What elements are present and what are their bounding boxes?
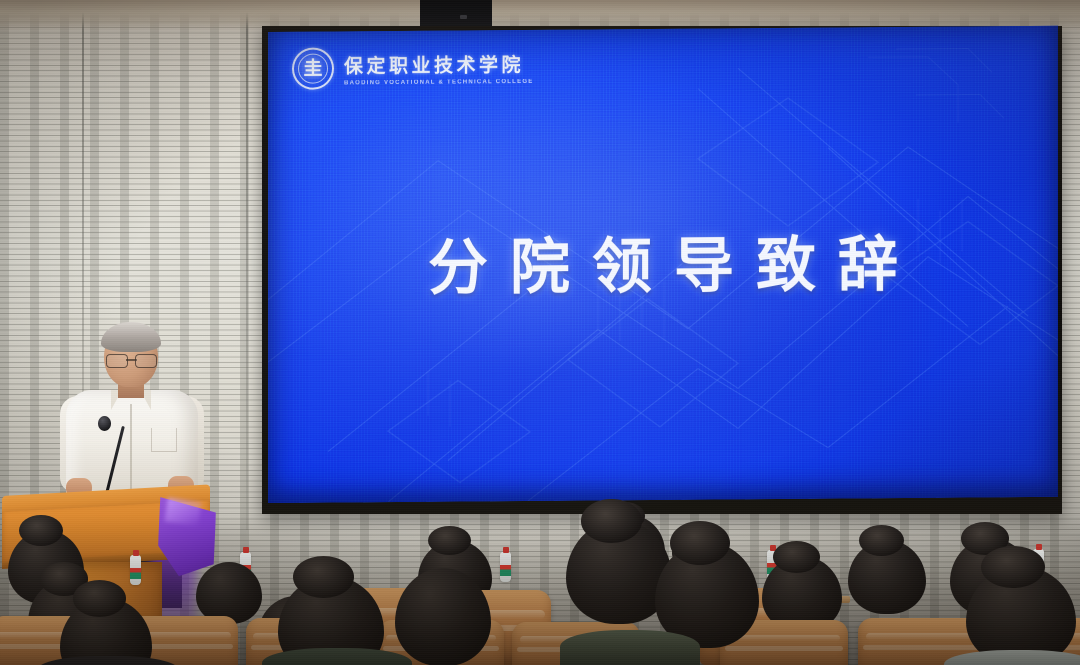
audience-shoulders [560, 630, 700, 665]
bottle-label [130, 568, 141, 579]
water-bottle [500, 552, 511, 582]
bottle-cap [133, 550, 139, 556]
seat-band [863, 645, 979, 650]
bottle-cap [503, 547, 509, 553]
bottle-cap [243, 547, 249, 553]
audience-head [848, 540, 926, 614]
audience-area [0, 0, 1080, 665]
bottle-label [500, 565, 511, 576]
water-bottle [130, 555, 141, 585]
seat-band [725, 646, 843, 651]
bottle-cap [1036, 544, 1042, 550]
conference-hall-photo: 圭 保定职业技术学院 BAODING VOCATIONAL & TECHNICA… [0, 0, 1080, 665]
audience-head [196, 562, 262, 624]
